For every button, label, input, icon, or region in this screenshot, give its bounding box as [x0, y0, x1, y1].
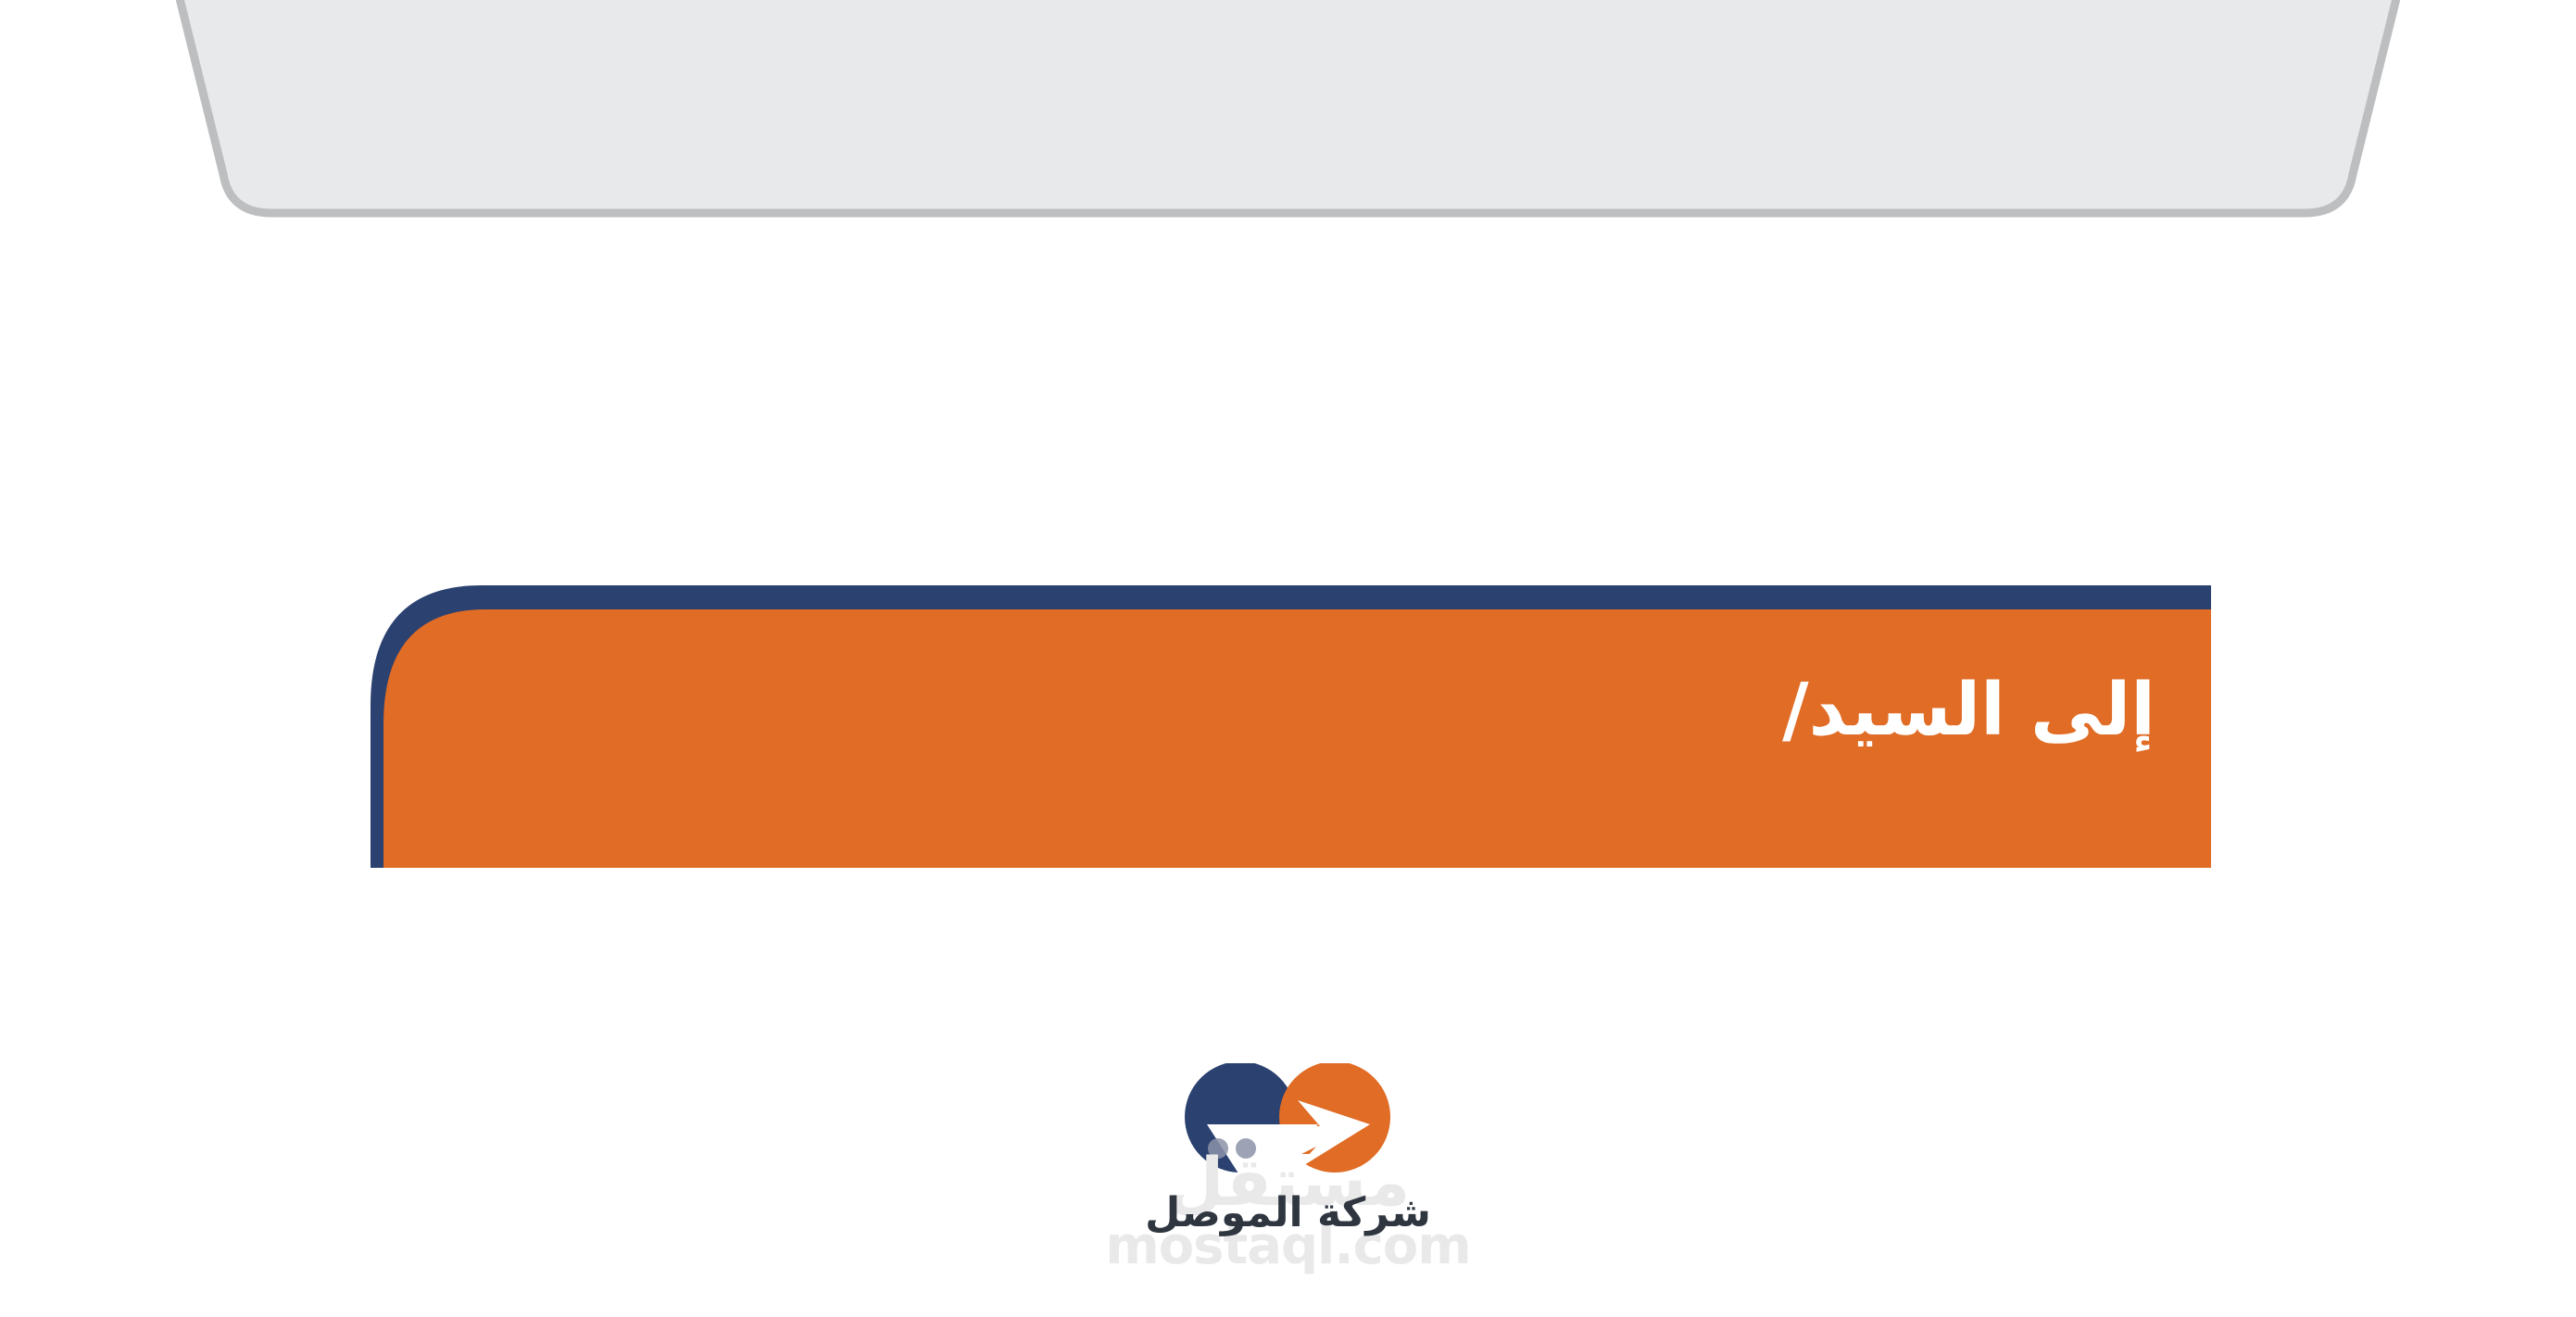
logo-dot-1	[1208, 1138, 1228, 1159]
footer-logo-block: مستقل mostaql.com شركة الموصل	[0, 1056, 2576, 1317]
recipient-label: إلى السيد/	[1782, 671, 2155, 751]
header-trapezoid-shape	[0, 0, 2576, 250]
mosul-company-logo-icon	[1179, 1063, 1394, 1176]
letterhead-page: إلى السيد/	[0, 0, 2576, 1317]
header-trapezoid-path	[111, 0, 2465, 213]
company-name: شركة الموصل	[1094, 1193, 1483, 1234]
logo-dot-2	[1236, 1138, 1256, 1159]
recipient-banner: إلى السيد/	[371, 585, 2211, 868]
header-trapezoid	[0, 0, 2576, 250]
logo-mark-svg	[1179, 1063, 1394, 1176]
logo-stack: مستقل mostaql.com شركة الموصل	[1094, 1056, 1483, 1317]
